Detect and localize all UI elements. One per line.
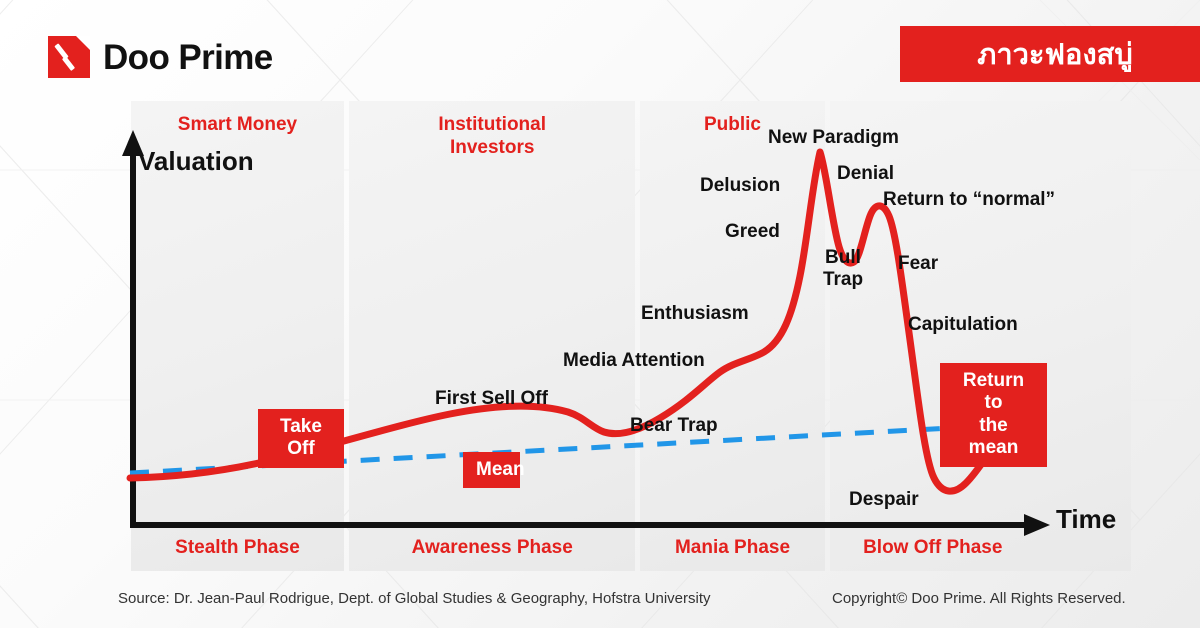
brand-name: Doo Prime xyxy=(103,40,273,75)
annotation-mean: Mean xyxy=(463,452,520,488)
footer-source: Source: Dr. Jean-Paul Rodrigue, Dept. of… xyxy=(118,590,711,607)
annotation-delusion: Delusion xyxy=(700,175,780,197)
x-axis-label: Time xyxy=(1056,504,1116,535)
y-axis-label: Valuation xyxy=(138,146,254,177)
annotation-return-to-normal: Return to “normal” xyxy=(883,189,1055,211)
annotation-media-attention: Media Attention xyxy=(563,350,705,372)
phase-panel-mania: Public Mania Phase xyxy=(640,101,824,571)
topic-banner: ภาวะฟองสบู่ xyxy=(900,26,1200,82)
annotation-bull-trap-line2: Trap xyxy=(823,269,863,290)
phase-bottom-label-blowoff: Blow Off Phase xyxy=(830,537,1131,559)
annotation-return-to-mean-line1: Return to xyxy=(963,370,1024,413)
annotation-take-off: Take Off xyxy=(258,409,344,468)
annotation-despair: Despair xyxy=(849,489,919,511)
annotation-return-to-mean-line2: the mean xyxy=(969,415,1019,458)
annotation-bear-trap: Bear Trap xyxy=(630,415,718,437)
annotation-new-paradigm: New Paradigm xyxy=(768,127,899,149)
phase-panels: Smart Money Stealth Phase Institutional … xyxy=(131,101,1131,571)
infographic-canvas: Doo Prime ภาวะฟองสบู่ Smart Money Stealt… xyxy=(0,0,1200,628)
phase-top-label-institutional: Institutional Investors xyxy=(349,113,636,159)
phase-bottom-label-stealth: Stealth Phase xyxy=(131,537,344,559)
footer-copyright: Copyright© Doo Prime. All Rights Reserve… xyxy=(832,590,1126,607)
annotation-bull-trap: Bull Trap xyxy=(820,247,866,291)
annotation-bull-trap-line1: Bull xyxy=(825,247,861,268)
phase-bottom-label-mania: Mania Phase xyxy=(640,537,824,559)
annotation-denial: Denial xyxy=(837,163,894,185)
annotation-return-to-mean: Return to the mean xyxy=(940,363,1047,467)
annotation-greed: Greed xyxy=(725,221,780,243)
annotation-capitulation: Capitulation xyxy=(908,314,1018,336)
footer: Source: Dr. Jean-Paul Rodrigue, Dept. of… xyxy=(0,590,1200,618)
annotation-enthusiasm: Enthusiasm xyxy=(641,303,749,325)
annotation-fear: Fear xyxy=(898,253,938,275)
doo-prime-mark-icon xyxy=(48,36,90,78)
phase-panel-awareness: Institutional Investors Awareness Phase xyxy=(349,101,636,571)
phase-top-label-smart-money: Smart Money xyxy=(131,113,344,136)
phase-bottom-label-awareness: Awareness Phase xyxy=(349,537,636,559)
brand-logo: Doo Prime xyxy=(48,36,273,78)
annotation-first-sell-off: First Sell Off xyxy=(435,388,548,410)
